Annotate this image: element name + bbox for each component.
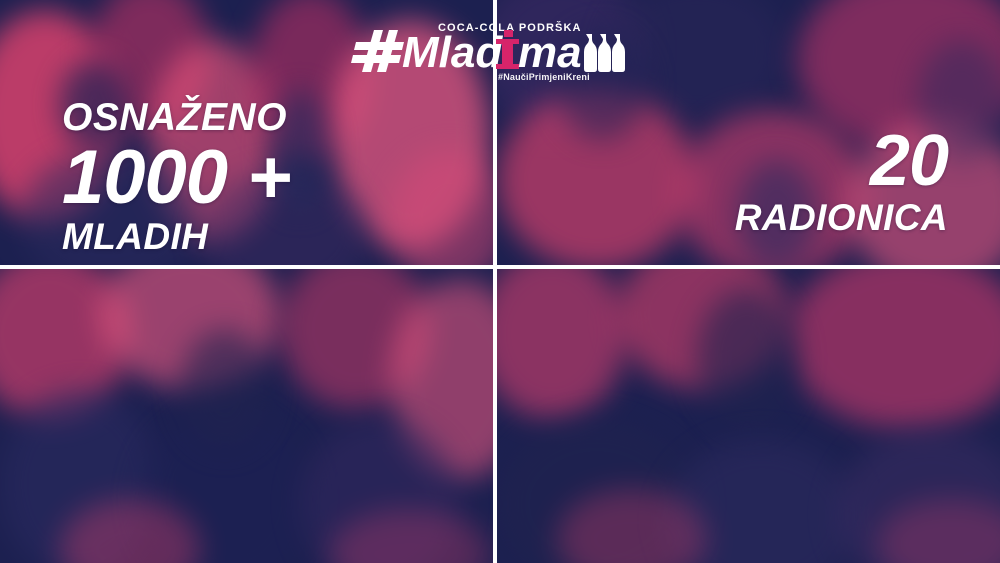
stat-block-empowered-youth: OSNAŽENO 1000 + MLADIH: [62, 98, 291, 256]
quadrant-bottom-right: 20 PREDAVAČA: [497, 269, 1000, 563]
divider-horizontal: [0, 265, 1000, 269]
stat-block-workshops: 20 RADIONICA: [735, 128, 948, 237]
quadrant-bottom-left: 10 GRADOVA ŠIROM CRNE GORE: [0, 269, 493, 563]
mladima-logo-lockup: COCA-COLA PODRŠKA Mlad ma: [350, 8, 650, 86]
stat-label-top: OSNAŽENO: [62, 98, 291, 137]
stat-label-bottom: MLADIH: [62, 217, 291, 256]
mladima-wordmark-icon: Mlad ma: [350, 26, 650, 72]
photo-lecture-hall: [497, 269, 1000, 563]
logo-hashtag: #NaučiPrimjeniKreni: [498, 72, 590, 82]
photo-classroom-discussion: [0, 269, 493, 563]
wordmark-mlad-text: Mlad: [402, 28, 503, 72]
wordmark-ma-text: ma: [518, 28, 582, 72]
coca-cola-bottle-icons: [584, 34, 625, 72]
campaign-stats-banner: OSNAŽENO 1000 + MLADIH 20 RADIONICA: [0, 0, 1000, 563]
stat-label-bottom: RADIONICA: [735, 198, 948, 237]
stat-number: 1000 +: [62, 143, 291, 213]
stat-number: 20: [735, 128, 948, 194]
